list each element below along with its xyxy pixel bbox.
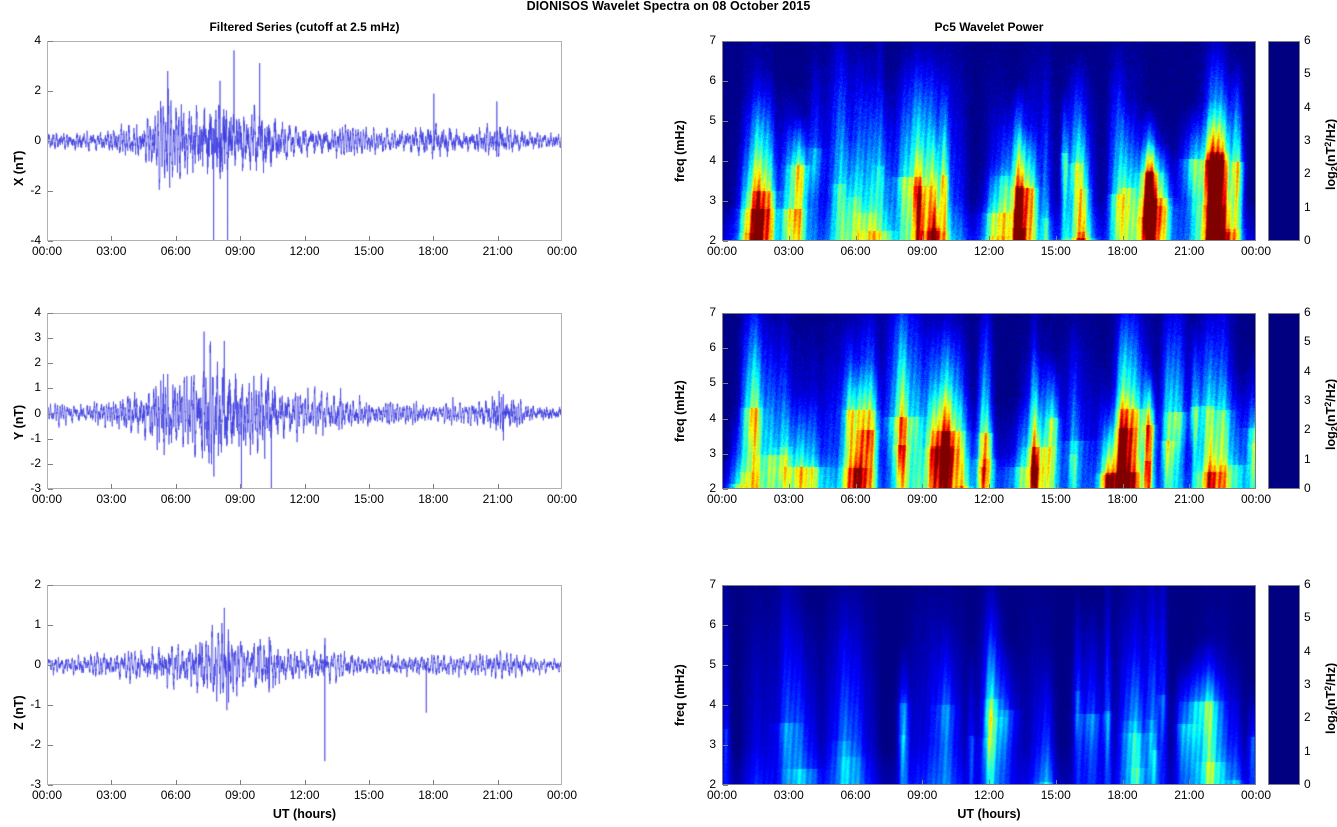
- y-tick-label: -1: [11, 697, 41, 711]
- tick-mark: [48, 414, 53, 415]
- timeseries-axes-x: [47, 41, 562, 241]
- tick-mark: [723, 241, 728, 242]
- tick-mark: [433, 236, 434, 241]
- x-tick-label: 18:00: [407, 788, 459, 802]
- freq-tick-label: 7: [696, 305, 716, 319]
- x-tick-label: 03:00: [85, 492, 137, 506]
- freq-tick-label: 5: [696, 113, 716, 127]
- x-tick-label: 09:00: [896, 492, 948, 506]
- y-axis-label-x: X (nT): [12, 151, 26, 186]
- tick-mark: [723, 454, 728, 455]
- left-column-title: Filtered Series (cutoff at 2.5 mHz): [47, 20, 562, 34]
- tick-mark: [498, 780, 499, 785]
- x-tick-label: 00:00: [536, 244, 588, 258]
- colorbar-tick-label: 4: [1304, 644, 1311, 658]
- tick-mark: [48, 338, 53, 339]
- tick-mark: [723, 625, 728, 626]
- spectrogram-image-y: [723, 314, 1255, 488]
- y-tick-label: -2: [11, 456, 41, 470]
- y-tick-label: 1: [11, 617, 41, 631]
- x-tick-label: 12:00: [963, 492, 1015, 506]
- tick-mark: [922, 236, 923, 241]
- colorbar-tick-label: 2: [1304, 422, 1311, 436]
- x-axis-label-left: UT (hours): [47, 807, 562, 821]
- colorbar-tick-label: 1: [1304, 200, 1311, 214]
- colorbar-gradient: [1269, 42, 1299, 240]
- colorbar-tick-label: 6: [1304, 305, 1311, 319]
- figure-canvas: DIONISOS Wavelet Spectra on 08 October 2…: [0, 0, 1337, 827]
- x-tick-label: 00:00: [536, 788, 588, 802]
- tick-mark: [305, 780, 306, 785]
- timeseries-trace-y: [48, 314, 561, 488]
- tick-mark: [498, 236, 499, 241]
- x-tick-label: 18:00: [1097, 788, 1149, 802]
- tick-mark: [723, 489, 728, 490]
- x-tick-label: 15:00: [1030, 244, 1082, 258]
- colorbar-gradient: [1269, 314, 1299, 488]
- x-tick-label: 12:00: [279, 492, 331, 506]
- colorbar-gradient: [1269, 586, 1299, 784]
- tick-mark: [369, 236, 370, 241]
- figure-title: DIONISOS Wavelet Spectra on 08 October 2…: [0, 0, 1337, 13]
- tick-mark: [240, 236, 241, 241]
- colorbar-tick-label: 2: [1304, 166, 1311, 180]
- spectrogram-axes-z: [722, 585, 1256, 785]
- colorbar-tick-label: 6: [1304, 33, 1311, 47]
- tick-mark: [48, 439, 53, 440]
- tick-mark: [723, 161, 728, 162]
- x-tick-label: 18:00: [1097, 492, 1149, 506]
- x-tick-label: 21:00: [1163, 492, 1215, 506]
- tick-mark: [723, 313, 728, 314]
- freq-tick-label: 4: [696, 153, 716, 167]
- colorbar-tick-label: 6: [1304, 577, 1311, 591]
- colorbar-y: [1268, 313, 1300, 489]
- tick-mark: [48, 785, 53, 786]
- colorbar-tick-label: 1: [1304, 452, 1311, 466]
- tick-mark: [723, 41, 728, 42]
- x-tick-label: 00:00: [21, 788, 73, 802]
- tick-mark: [48, 191, 53, 192]
- x-tick-label: 03:00: [85, 244, 137, 258]
- tick-mark: [856, 484, 857, 489]
- y-tick-label: 2: [11, 577, 41, 591]
- colorbar-tick-label: 3: [1304, 393, 1311, 407]
- colorbar-tick-label: 5: [1304, 610, 1311, 624]
- freq-axis-label-x: freq (mHz): [673, 120, 687, 182]
- tick-mark: [723, 665, 728, 666]
- x-tick-label: 21:00: [1163, 244, 1215, 258]
- x-tick-label: 21:00: [472, 492, 524, 506]
- x-tick-label: 12:00: [279, 244, 331, 258]
- colorbar-tick-label: 3: [1304, 677, 1311, 691]
- tick-mark: [48, 625, 53, 626]
- x-tick-label: 03:00: [763, 492, 815, 506]
- freq-tick-label: 7: [696, 33, 716, 47]
- tick-mark: [240, 780, 241, 785]
- spectrogram-axes-x: [722, 41, 1256, 241]
- y-tick-label: 3: [11, 330, 41, 344]
- colorbar-z: [1268, 585, 1300, 785]
- x-tick-label: 09:00: [214, 788, 266, 802]
- tick-mark: [48, 388, 53, 389]
- tick-mark: [856, 780, 857, 785]
- tick-mark: [48, 241, 53, 242]
- x-tick-label: 15:00: [1030, 492, 1082, 506]
- tick-mark: [111, 236, 112, 241]
- x-tick-label: 15:00: [343, 492, 395, 506]
- tick-mark: [723, 705, 728, 706]
- x-tick-label: 21:00: [1163, 788, 1215, 802]
- tick-mark: [989, 236, 990, 241]
- tick-mark: [305, 484, 306, 489]
- freq-tick-label: 3: [696, 446, 716, 460]
- x-tick-label: 06:00: [150, 244, 202, 258]
- tick-mark: [433, 780, 434, 785]
- colorbar-tick-label: 0: [1304, 481, 1311, 495]
- x-tick-label: 09:00: [896, 788, 948, 802]
- x-tick-label: 00:00: [696, 244, 748, 258]
- x-tick-label: 15:00: [1030, 788, 1082, 802]
- x-tick-label: 06:00: [830, 492, 882, 506]
- freq-tick-label: 3: [696, 737, 716, 751]
- x-tick-label: 15:00: [343, 788, 395, 802]
- y-tick-label: -2: [11, 737, 41, 751]
- colorbar-tick-label: 5: [1304, 66, 1311, 80]
- freq-tick-label: 6: [696, 617, 716, 631]
- x-tick-label: 06:00: [150, 788, 202, 802]
- tick-mark: [723, 81, 728, 82]
- timeseries-axes-y: [47, 313, 562, 489]
- tick-mark: [1189, 780, 1190, 785]
- x-tick-label: 15:00: [343, 244, 395, 258]
- freq-tick-label: 3: [696, 193, 716, 207]
- x-tick-label: 18:00: [407, 244, 459, 258]
- tick-mark: [1189, 236, 1190, 241]
- tick-mark: [48, 41, 53, 42]
- tick-mark: [48, 585, 53, 586]
- freq-tick-label: 5: [696, 657, 716, 671]
- tick-mark: [176, 236, 177, 241]
- y-tick-label: 1: [11, 380, 41, 394]
- colorbar-label-y: log2(nT2/Hz): [1323, 379, 1337, 450]
- x-tick-label: 00:00: [1230, 244, 1282, 258]
- x-tick-label: 00:00: [696, 788, 748, 802]
- y-tick-label: 0: [11, 657, 41, 671]
- x-tick-label: 00:00: [21, 244, 73, 258]
- x-tick-label: 12:00: [963, 788, 1015, 802]
- tick-mark: [1189, 484, 1190, 489]
- tick-mark: [48, 489, 53, 490]
- tick-mark: [498, 484, 499, 489]
- x-tick-label: 06:00: [830, 788, 882, 802]
- x-tick-label: 00:00: [1230, 788, 1282, 802]
- x-tick-label: 03:00: [763, 788, 815, 802]
- x-tick-label: 12:00: [963, 244, 1015, 258]
- colorbar-tick-label: 5: [1304, 334, 1311, 348]
- right-column-title: Pc5 Wavelet Power: [722, 20, 1256, 34]
- x-tick-label: 06:00: [830, 244, 882, 258]
- y-tick-label: 4: [11, 33, 41, 47]
- tick-mark: [1123, 484, 1124, 489]
- freq-tick-label: 4: [696, 697, 716, 711]
- colorbar-tick-label: 0: [1304, 777, 1311, 791]
- x-tick-label: 00:00: [1230, 492, 1282, 506]
- tick-mark: [176, 484, 177, 489]
- colorbar-tick-label: 4: [1304, 364, 1311, 378]
- x-tick-label: 03:00: [85, 788, 137, 802]
- tick-mark: [723, 785, 728, 786]
- tick-mark: [48, 665, 53, 666]
- tick-mark: [48, 313, 53, 314]
- colorbar-tick-label: 1: [1304, 744, 1311, 758]
- tick-mark: [723, 383, 728, 384]
- tick-mark: [48, 91, 53, 92]
- tick-mark: [111, 780, 112, 785]
- y-tick-label: 0: [11, 133, 41, 147]
- tick-mark: [789, 236, 790, 241]
- freq-axis-label-z: freq (mHz): [673, 664, 687, 726]
- spectrogram-image-z: [723, 586, 1255, 784]
- tick-mark: [856, 236, 857, 241]
- y-tick-label: -1: [11, 431, 41, 445]
- x-tick-label: 18:00: [407, 492, 459, 506]
- x-tick-label: 21:00: [472, 244, 524, 258]
- y-tick-label: 0: [11, 406, 41, 420]
- x-tick-label: 09:00: [896, 244, 948, 258]
- tick-mark: [1056, 484, 1057, 489]
- colorbar-label-x: log2(nT2/Hz): [1323, 119, 1337, 190]
- tick-mark: [989, 780, 990, 785]
- y-tick-label: 2: [11, 83, 41, 97]
- tick-mark: [369, 780, 370, 785]
- tick-mark: [48, 705, 53, 706]
- colorbar-tick-label: 4: [1304, 100, 1311, 114]
- x-tick-label: 00:00: [696, 492, 748, 506]
- y-tick-label: -2: [11, 183, 41, 197]
- x-tick-label: 00:00: [536, 492, 588, 506]
- colorbar-label-z: log2(nT2/Hz): [1323, 663, 1337, 734]
- tick-mark: [723, 419, 728, 420]
- tick-mark: [48, 745, 53, 746]
- tick-mark: [723, 121, 728, 122]
- spectrogram-image-x: [723, 42, 1255, 240]
- tick-mark: [176, 780, 177, 785]
- freq-tick-label: 6: [696, 340, 716, 354]
- x-tick-label: 09:00: [214, 492, 266, 506]
- freq-tick-label: 7: [696, 577, 716, 591]
- tick-mark: [433, 484, 434, 489]
- tick-mark: [1123, 780, 1124, 785]
- tick-mark: [1056, 780, 1057, 785]
- tick-mark: [1056, 236, 1057, 241]
- colorbar-label-text: log2(nT2/Hz): [1324, 379, 1337, 450]
- freq-tick-label: 5: [696, 375, 716, 389]
- tick-mark: [111, 484, 112, 489]
- tick-mark: [922, 780, 923, 785]
- tick-mark: [369, 484, 370, 489]
- colorbar-tick-label: 2: [1304, 710, 1311, 724]
- x-tick-label: 21:00: [472, 788, 524, 802]
- tick-mark: [1123, 236, 1124, 241]
- x-tick-label: 12:00: [279, 788, 331, 802]
- colorbar-x: [1268, 41, 1300, 241]
- x-axis-label-right: UT (hours): [722, 807, 1256, 821]
- tick-mark: [922, 484, 923, 489]
- colorbar-label-text: log2(nT2/Hz): [1324, 119, 1337, 190]
- tick-mark: [723, 201, 728, 202]
- freq-tick-label: 6: [696, 73, 716, 87]
- tick-mark: [989, 484, 990, 489]
- x-tick-label: 03:00: [763, 244, 815, 258]
- x-tick-label: 09:00: [214, 244, 266, 258]
- colorbar-label-text: log2(nT2/Hz): [1324, 663, 1337, 734]
- x-tick-label: 00:00: [21, 492, 73, 506]
- tick-mark: [48, 464, 53, 465]
- tick-mark: [48, 363, 53, 364]
- y-tick-label: 2: [11, 355, 41, 369]
- timeseries-trace-x: [48, 42, 561, 240]
- tick-mark: [723, 745, 728, 746]
- tick-mark: [789, 780, 790, 785]
- y-tick-label: 4: [11, 305, 41, 319]
- freq-tick-label: 4: [696, 411, 716, 425]
- timeseries-axes-z: [47, 585, 562, 785]
- spectrogram-axes-y: [722, 313, 1256, 489]
- x-tick-label: 06:00: [150, 492, 202, 506]
- x-tick-label: 18:00: [1097, 244, 1149, 258]
- colorbar-tick-label: 3: [1304, 133, 1311, 147]
- tick-mark: [723, 585, 728, 586]
- freq-axis-label-y: freq (mHz): [673, 380, 687, 442]
- tick-mark: [305, 236, 306, 241]
- timeseries-trace-z: [48, 586, 561, 784]
- tick-mark: [48, 141, 53, 142]
- tick-mark: [723, 348, 728, 349]
- tick-mark: [789, 484, 790, 489]
- colorbar-tick-label: 0: [1304, 233, 1311, 247]
- tick-mark: [240, 484, 241, 489]
